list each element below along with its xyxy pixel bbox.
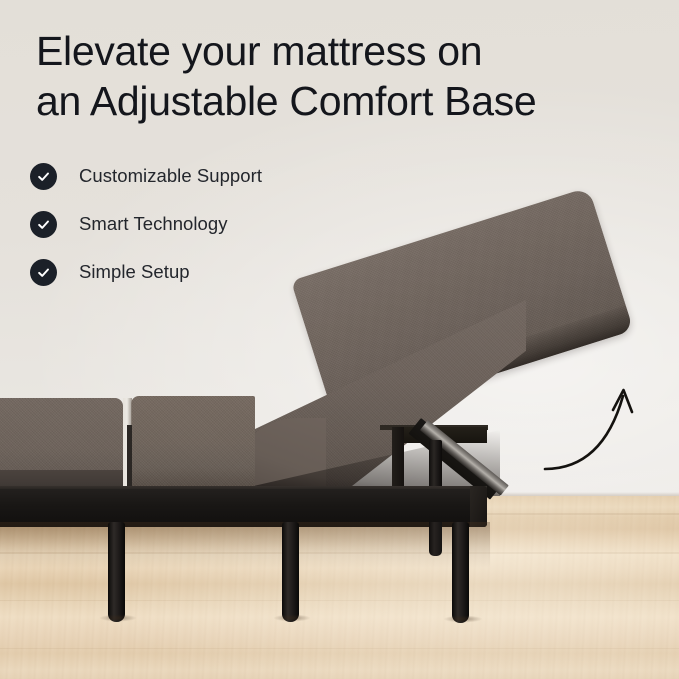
feature-label: Smart Technology [79, 213, 228, 235]
bed-leg [282, 522, 299, 622]
page-title: Elevate your mattress on an Adjustable C… [36, 26, 656, 126]
panel-split-shadow [127, 425, 132, 492]
curved-up-arrow-icon [528, 368, 648, 488]
list-item: Smart Technology [30, 208, 430, 240]
mid-panel-fabric-weave [131, 396, 255, 492]
leg-contact-shadow [266, 613, 318, 623]
feature-list: Customizable Support Smart Technology Si… [30, 160, 430, 304]
feature-label: Simple Setup [79, 261, 190, 283]
product-lifestyle-image: Elevate your mattress on an Adjustable C… [0, 0, 679, 679]
bed-leg [452, 522, 469, 623]
feature-label: Customizable Support [79, 165, 262, 187]
frame-ground-shadow [0, 522, 490, 568]
leg-contact-shadow [92, 613, 144, 623]
check-circle-icon [30, 163, 57, 190]
leg-contact-shadow [436, 614, 490, 624]
support-post-lower [429, 522, 442, 556]
check-circle-icon [30, 211, 57, 238]
check-circle-icon [30, 259, 57, 286]
list-item: Customizable Support [30, 160, 430, 192]
bed-leg [108, 522, 125, 622]
side-rail-end-cap [470, 486, 487, 527]
mid-panel [131, 396, 255, 492]
upper-cross-beam-face [392, 427, 404, 495]
list-item: Simple Setup [30, 256, 430, 288]
